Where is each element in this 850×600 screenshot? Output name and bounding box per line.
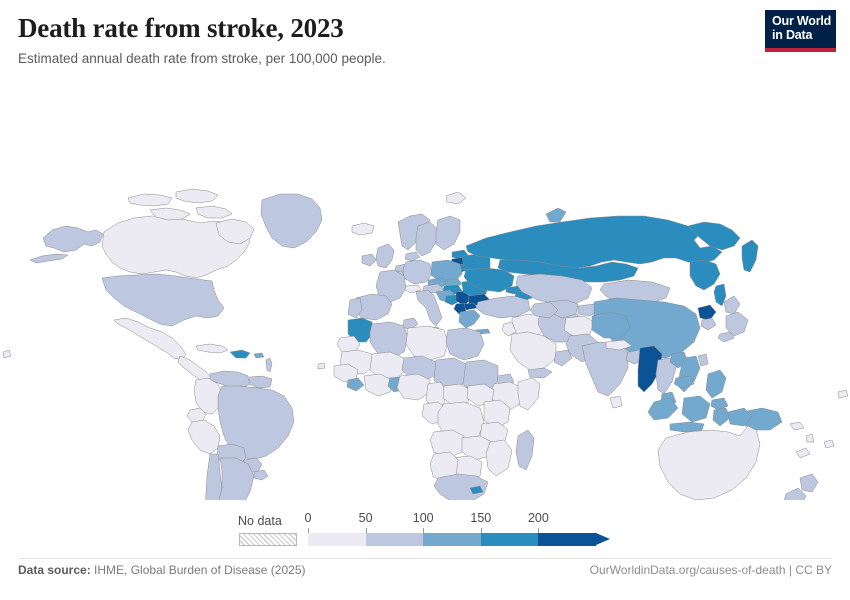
country-taiwan[interactable] — [698, 354, 708, 366]
country-greece[interactable] — [459, 310, 480, 328]
country-greenland[interactable] — [261, 194, 322, 248]
color-scale-bin-1[interactable] — [366, 533, 424, 546]
country-denmark[interactable] — [405, 252, 420, 261]
country-new-caledonia[interactable] — [796, 448, 810, 458]
country-mali[interactable] — [370, 352, 406, 378]
country-libya[interactable] — [406, 326, 448, 360]
country-united-kingdom[interactable] — [376, 244, 394, 268]
country-canada-arctic-1[interactable] — [128, 194, 172, 206]
scale-tick-3 — [481, 528, 482, 533]
country-nigeria[interactable] — [397, 374, 430, 400]
color-scale[interactable]: 050100150200 — [308, 533, 616, 546]
logo-line-1: Our World — [772, 14, 831, 28]
data-source: Data source: IHME, Global Burden of Dise… — [18, 563, 305, 577]
page-title: Death rate from stroke, 2023 — [18, 14, 832, 44]
country-madagascar[interactable] — [516, 430, 534, 470]
page-subtitle: Estimated annual death rate from stroke,… — [18, 51, 832, 67]
scale-tick-label-3: 150 — [470, 511, 491, 525]
country-ireland[interactable] — [362, 254, 376, 266]
color-scale-bar[interactable] — [308, 533, 596, 546]
country-philippines[interactable] — [706, 370, 726, 398]
scale-tick-0 — [308, 528, 309, 533]
country-solomon-islands[interactable] — [790, 422, 804, 430]
owid-logo[interactable]: Our World in Data — [765, 10, 836, 52]
country-alaska[interactable] — [43, 226, 103, 252]
country-finland[interactable] — [436, 216, 460, 250]
country-cambodia[interactable] — [674, 376, 694, 388]
no-data-label: No data — [238, 514, 282, 528]
country-novaya-zemlya[interactable] — [546, 208, 566, 222]
scale-tick-label-4: 200 — [528, 511, 549, 525]
choropleth-map[interactable] — [0, 80, 850, 500]
chart-header: Death rate from stroke, 2023 Estimated a… — [0, 0, 850, 76]
map-legend: No data 050100150200 — [0, 505, 850, 553]
country-japan[interactable] — [724, 296, 740, 314]
scale-tick-label-1: 50 — [359, 511, 373, 525]
country-uruguay[interactable] — [254, 470, 268, 480]
no-data-swatch[interactable] — [239, 533, 297, 546]
country-guyanas[interactable] — [249, 376, 272, 388]
country-peru[interactable] — [188, 420, 220, 454]
data-source-text: IHME, Global Burden of Disease (2025) — [94, 563, 305, 577]
country-puerto-rico[interactable] — [254, 353, 264, 358]
country-chile[interactable] — [205, 454, 222, 500]
country-sierra-leone-liberia[interactable] — [347, 378, 364, 391]
country-argentina[interactable] — [216, 458, 254, 500]
map-countries — [3, 189, 848, 500]
country-germany[interactable] — [403, 260, 432, 284]
scale-tick-1 — [366, 528, 367, 533]
scale-tick-2 — [423, 528, 424, 533]
color-scale-bin-4[interactable] — [538, 533, 596, 546]
color-scale-arrow — [596, 533, 610, 545]
footer-divider — [18, 558, 832, 559]
country-cuba[interactable] — [196, 344, 228, 353]
country-mozambique[interactable] — [486, 440, 512, 476]
country-lesser-antilles[interactable] — [266, 358, 272, 372]
country-sri-lanka[interactable] — [610, 396, 622, 408]
logo-line-2: in Data — [772, 28, 812, 42]
country-pacific-islands[interactable] — [838, 390, 848, 398]
country-iceland[interactable] — [352, 223, 374, 235]
attribution-link[interactable]: OurWorldinData.org/causes-of-death | CC … — [590, 563, 832, 577]
scale-tick-4 — [538, 528, 539, 533]
color-scale-bin-0[interactable] — [308, 533, 366, 546]
country-egypt[interactable] — [446, 328, 484, 360]
country-australia[interactable] — [658, 426, 760, 500]
color-scale-bin-2[interactable] — [423, 533, 481, 546]
country-sweden[interactable] — [416, 222, 438, 256]
country-borneo[interactable] — [682, 396, 710, 422]
country-aleutians[interactable] — [30, 254, 68, 263]
country-india[interactable] — [582, 342, 628, 396]
scale-tick-label-2: 100 — [413, 511, 434, 525]
country-fiji[interactable] — [824, 440, 834, 448]
country-svalbard[interactable] — [446, 192, 466, 204]
country-south-korea[interactable] — [701, 318, 716, 330]
color-scale-bin-3[interactable] — [481, 533, 539, 546]
country-yemen[interactable] — [528, 368, 552, 378]
country-cape-verde[interactable] — [318, 363, 325, 369]
scale-tick-label-0: 0 — [305, 511, 312, 525]
country-russia-far-east[interactable] — [690, 260, 720, 290]
country-vanuatu[interactable] — [806, 434, 814, 442]
chart-footer: Data source: IHME, Global Burden of Dise… — [0, 563, 850, 591]
country-canada-arctic-4[interactable] — [196, 206, 232, 218]
country-kamchatka[interactable] — [742, 240, 758, 272]
country-north-korea[interactable] — [698, 305, 716, 320]
country-united-states[interactable] — [102, 274, 224, 326]
country-sulawesi[interactable] — [713, 408, 730, 426]
country-java[interactable] — [670, 422, 704, 432]
country-west-pacific-dot[interactable] — [3, 350, 11, 358]
data-source-prefix: Data source: — [18, 563, 91, 577]
country-new-zealand-north[interactable] — [800, 474, 818, 492]
country-somalia[interactable] — [518, 378, 540, 410]
country-canada-arctic-2[interactable] — [176, 189, 218, 203]
country-hispaniola[interactable] — [230, 350, 250, 358]
world-map-svg[interactable] — [0, 80, 850, 500]
